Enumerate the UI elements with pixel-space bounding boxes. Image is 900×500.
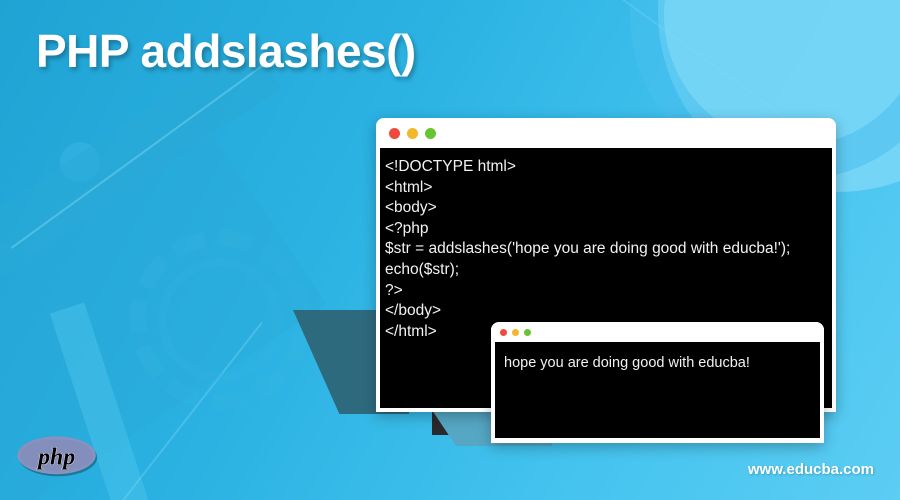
maximize-icon[interactable] — [425, 128, 436, 139]
code-window-titlebar[interactable] — [376, 118, 836, 148]
code-line: </body> — [385, 301, 832, 322]
php-logo: php — [16, 434, 100, 478]
page-title: PHP addslashes() — [36, 24, 416, 78]
code-line: ?> — [385, 281, 832, 302]
close-icon[interactable] — [389, 128, 400, 139]
code-line: <?php — [385, 219, 832, 240]
code-line: <html> — [385, 178, 832, 199]
output-window[interactable]: hope you are doing good with educba! — [491, 322, 824, 443]
svg-text:php: php — [36, 444, 75, 470]
maximize-icon[interactable] — [524, 329, 531, 336]
code-line: <!DOCTYPE html> — [385, 157, 832, 178]
output-text: hope you are doing good with educba! — [504, 354, 820, 373]
code-line: echo($str); — [385, 260, 832, 281]
code-line: <body> — [385, 198, 832, 219]
close-icon[interactable] — [500, 329, 507, 336]
gear-inner-icon — [158, 258, 282, 382]
minimize-icon[interactable] — [512, 329, 519, 336]
website-url: www.educba.com — [748, 461, 874, 478]
minimize-icon[interactable] — [407, 128, 418, 139]
code-line: $str = addslashes('hope you are doing go… — [385, 239, 832, 260]
output-body: hope you are doing good with educba! — [495, 342, 820, 438]
slide-canvas: PHP addslashes() <!DOCTYPE html> <html> … — [0, 0, 900, 500]
output-window-titlebar[interactable] — [491, 322, 824, 342]
